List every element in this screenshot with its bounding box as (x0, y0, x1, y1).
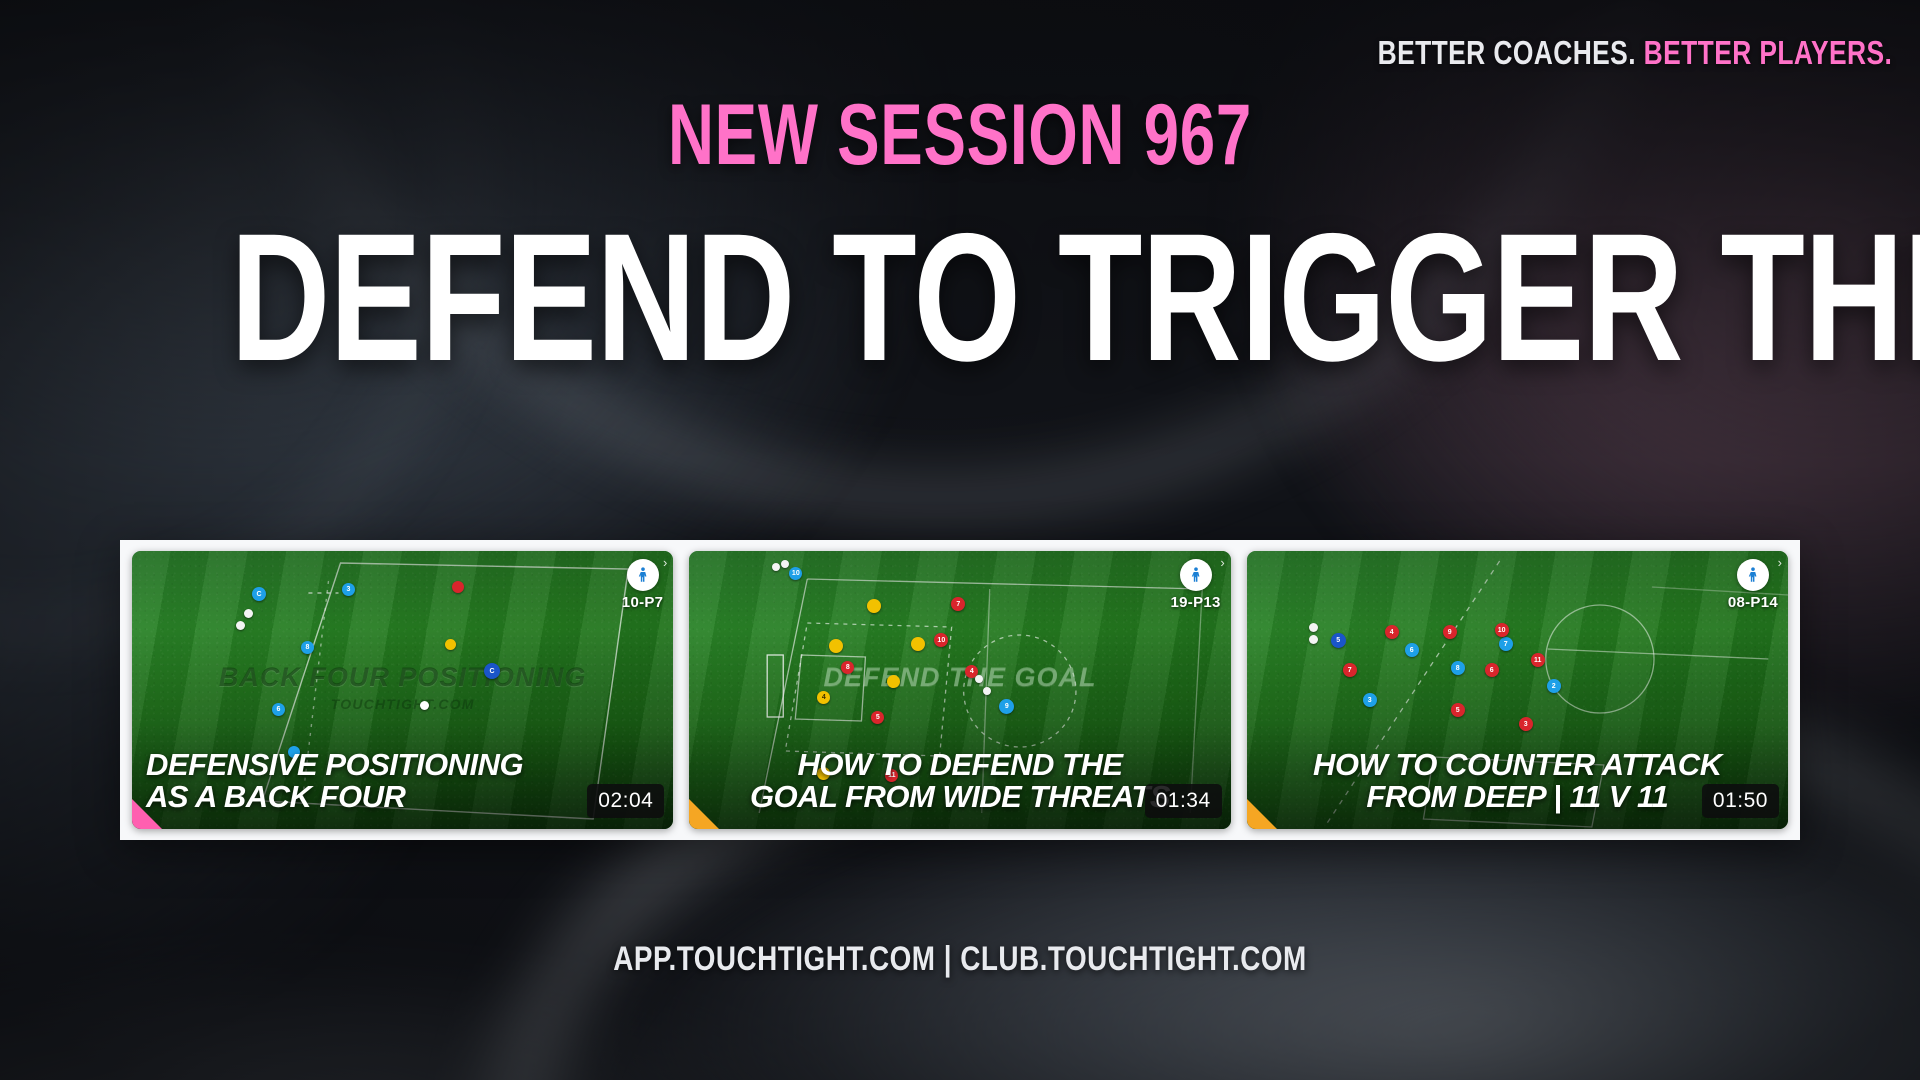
player-badge-icon (1737, 559, 1769, 591)
card-corner-accent-2 (689, 799, 719, 829)
card-code-3: 08-P14 (1728, 594, 1778, 611)
player-badge-icon (1180, 559, 1212, 591)
player-token: 3 (1363, 693, 1377, 707)
player-token (1309, 623, 1318, 632)
card-title-1: DEFENSIVE POSITIONING AS A BACK FOUR (146, 749, 659, 813)
tagline-coaches: BETTER COACHES. (1377, 34, 1635, 71)
player-token: 4 (1385, 625, 1399, 639)
player-token (1309, 635, 1318, 644)
card-title-2: HOW TO DEFEND THE GOAL FROM WIDE THREATS (703, 749, 1216, 813)
ball-icon (420, 701, 429, 710)
card-duration-2: 01:34 (1145, 784, 1222, 818)
card-code-1: 10-P7 (622, 594, 664, 611)
session-card-1[interactable]: BACK FOUR POSITIONING TOUCHTIGHT.COM C 3… (132, 551, 673, 829)
card-duration-3: 01:50 (1702, 784, 1779, 818)
player-token: 2 (1547, 679, 1561, 693)
player-token: 7 (1499, 637, 1513, 651)
player-token: 6 (272, 703, 285, 716)
player-token (445, 639, 456, 650)
player-token: 5 (1331, 633, 1346, 648)
session-card-2[interactable]: DEFEND THE GOAL 4 7 10 8 4 5 11 10 9 › (689, 551, 1230, 829)
card-code-2: 19-P13 (1170, 594, 1220, 611)
player-token: 6 (1485, 663, 1499, 677)
chevron-right-icon[interactable]: › (1778, 555, 1782, 570)
player-token: 11 (1531, 653, 1545, 667)
player-token (236, 621, 245, 630)
player-token: 8 (1451, 661, 1465, 675)
player-badge-icon (627, 559, 659, 591)
player-token: 3 (1519, 717, 1533, 731)
chevron-right-icon[interactable]: › (1220, 555, 1224, 570)
page-title: DEFEND TO TRIGGER THE COUNTER (230, 212, 1689, 383)
player-token (244, 609, 253, 618)
card-duration-1: 02:04 (587, 784, 664, 818)
player-token: 3 (342, 583, 355, 596)
chevron-right-icon[interactable]: › (663, 555, 667, 570)
card-code-badge-2: 19-P13 (1170, 559, 1220, 611)
footer-links[interactable]: APP.TOUCHTIGHT.COM | CLUB.TOUCHTIGHT.COM (173, 940, 1747, 979)
card-title-3: HOW TO COUNTER ATTACK FROM DEEP | 11 V 1… (1261, 749, 1774, 813)
player-token: 8 (301, 641, 314, 654)
brand-tagline: BETTER COACHES. BETTER PLAYERS. (1377, 34, 1892, 72)
player-token: 6 (1405, 643, 1419, 657)
session-label: NEW SESSION 967 (250, 86, 1671, 185)
player-token: C (252, 587, 266, 601)
tagline-players: BETTER PLAYERS. (1643, 34, 1892, 71)
session-card-3[interactable]: 5 6 8 7 3 2 4 9 10 7 6 11 5 3 › (1247, 551, 1788, 829)
player-token (452, 581, 464, 593)
card-code-badge-1: 10-P7 (622, 559, 664, 611)
player-token: C (484, 663, 500, 679)
card-code-badge-3: 08-P14 (1728, 559, 1778, 611)
session-cards-strip: BACK FOUR POSITIONING TOUCHTIGHT.COM C 3… (120, 540, 1800, 840)
player-token: 5 (1451, 703, 1465, 717)
card-corner-accent-3 (1247, 799, 1277, 829)
card-corner-accent-1 (132, 799, 162, 829)
player-token: 10 (1495, 623, 1509, 637)
player-token: 7 (1343, 663, 1357, 677)
player-token: 9 (1443, 625, 1457, 639)
